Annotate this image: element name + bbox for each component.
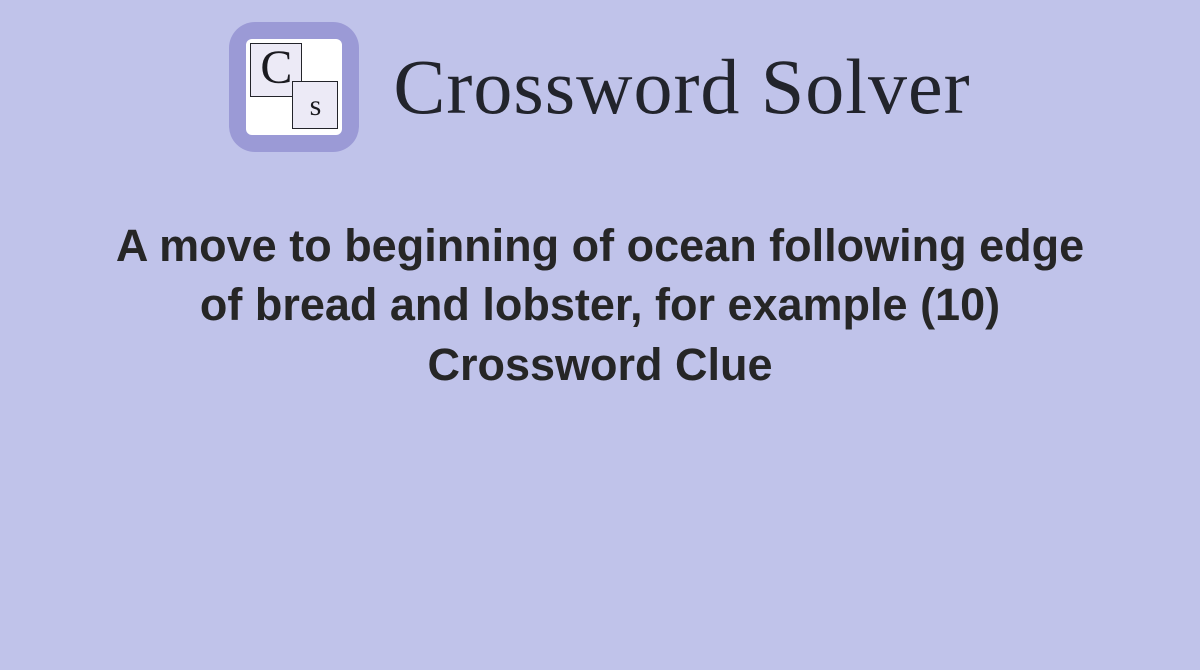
crossword-solver-logo[interactable]: C s — [229, 22, 359, 152]
brand-title: Crossword Solver — [393, 48, 970, 126]
page-subtitle: Crossword Clue — [95, 335, 1105, 394]
page-root: C s Crossword Solver A move to beginning… — [0, 0, 1200, 670]
logo-tile-s: s — [292, 81, 338, 129]
site-header: C s Crossword Solver — [0, 0, 1200, 140]
logo-letter-primary: C — [260, 44, 292, 92]
page-title: A move to beginning of ocean following e… — [95, 216, 1105, 335]
logo-letter-secondary: s — [310, 91, 322, 121]
logo-inner-panel: C s — [246, 39, 342, 135]
clue-block: A move to beginning of ocean following e… — [0, 216, 1200, 394]
